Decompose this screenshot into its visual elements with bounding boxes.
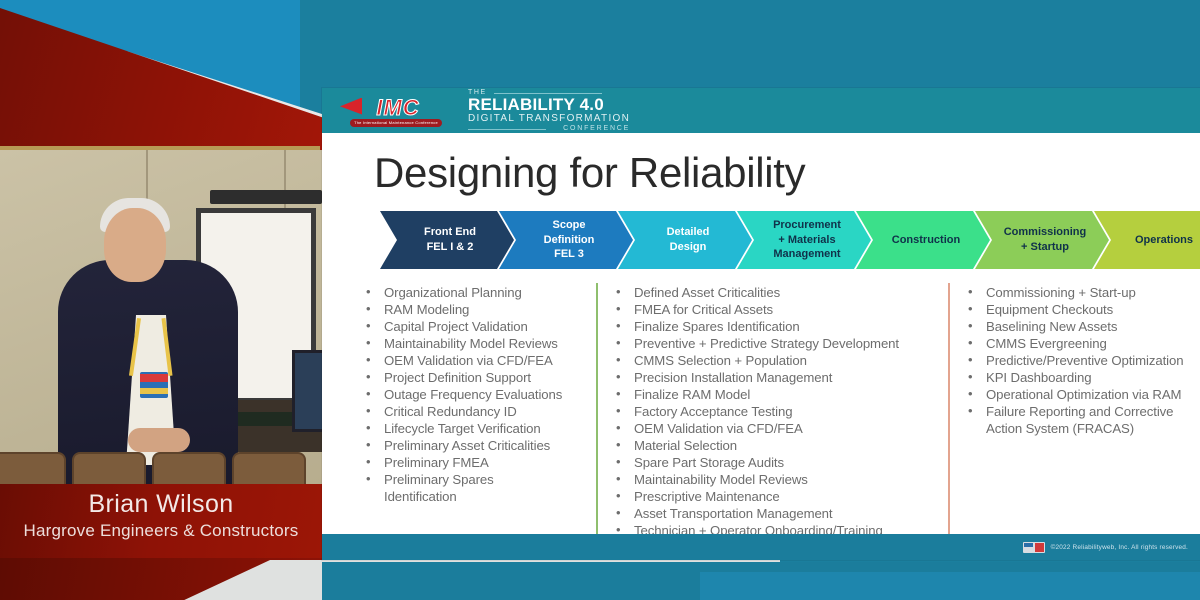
phase-chevron-6[interactable]: Commissioning+ Startup <box>975 211 1109 269</box>
deliverables-column-3: Commissioning + Start-upEquipment Checko… <box>948 285 1200 540</box>
list-item-continuation: Action System (FRACAS) <box>962 421 1200 437</box>
list-item: Preliminary Asset Criticalities <box>360 438 596 454</box>
list-item: OEM Validation via CFD/FEA <box>360 353 596 369</box>
phase-chevron-2[interactable]: ScopeDefinitionFEL 3 <box>499 211 633 269</box>
speaker-name-banner: Brian Wilson Hargrove Engineers & Constr… <box>0 484 322 560</box>
imc-logo-icon: IMC The International Maintenance Confer… <box>340 94 446 128</box>
phase-chevron-label: Construction <box>892 233 960 248</box>
list-item: Preliminary FMEA <box>360 455 596 471</box>
copyright-text: ©2022 Reliabilityweb, Inc. All rights re… <box>1051 544 1188 551</box>
list-item: Asset Transportation Management <box>610 506 948 522</box>
list-item: Defined Asset Criticalities <box>610 285 948 301</box>
phase-chevron-label: Procurement+ MaterialsManagement <box>773 218 841 263</box>
slide-footer: ©2022 Reliabilityweb, Inc. All rights re… <box>322 534 1200 560</box>
deliverables-column-2: Defined Asset CriticalitiesFMEA for Crit… <box>596 285 948 540</box>
speaker-video <box>0 150 322 488</box>
imc-logo-ribbon: The International Maintenance Conference <box>350 119 442 127</box>
list-item: Baselining New Assets <box>962 319 1200 335</box>
column-divider <box>346 283 348 545</box>
slide-left-edge <box>322 133 325 534</box>
list-item: OEM Validation via CFD/FEA <box>610 421 948 437</box>
phase-chevron-label: Operations <box>1135 233 1193 248</box>
phase-chevron-label: DetailedDesign <box>667 225 710 255</box>
audience-chairs <box>0 446 322 488</box>
deliverables-list: Defined Asset CriticalitiesFMEA for Crit… <box>610 285 948 539</box>
phase-chevron-4[interactable]: Procurement+ MaterialsManagement <box>737 211 871 269</box>
phase-chevron-label: Commissioning+ Startup <box>1004 225 1087 255</box>
brand-subtitle: DIGITAL TRANSFORMATION <box>468 114 630 125</box>
deliverables-column-1: Organizational PlanningRAM ModelingCapit… <box>346 285 596 540</box>
phase-chevron-3[interactable]: DetailedDesign <box>618 211 752 269</box>
brand-conference: CONFERENCE <box>468 125 630 132</box>
list-item: Material Selection <box>610 438 948 454</box>
brand-title: RELIABILITY 4.0 <box>468 96 630 114</box>
process-phase-chevrons: Front EndFEL I & 2ScopeDefinitionFEL 3De… <box>380 211 1192 269</box>
phase-chevron-5[interactable]: Construction <box>856 211 990 269</box>
list-item: Finalize RAM Model <box>610 387 948 403</box>
list-item: Predictive/Preventive Optimization <box>962 353 1200 369</box>
list-item: FMEA for Critical Assets <box>610 302 948 318</box>
presentation-slide: IMC The International Maintenance Confer… <box>322 88 1200 560</box>
list-item: Capital Project Validation <box>360 319 596 335</box>
list-item: Project Definition Support <box>360 370 596 386</box>
list-item: KPI Dashboarding <box>962 370 1200 386</box>
list-item: CMMS Evergreening <box>962 336 1200 352</box>
list-item: Prescriptive Maintenance <box>610 489 948 505</box>
brand-the: THE <box>468 89 630 96</box>
list-item: Commissioning + Start-up <box>962 285 1200 301</box>
list-item: Lifecycle Target Verification <box>360 421 596 437</box>
whiteboard-frame-top <box>210 190 322 204</box>
list-item: RAM Modeling <box>360 302 596 318</box>
list-item: Preliminary Spares <box>360 472 596 488</box>
slide-title: Designing for Reliability <box>322 133 1200 197</box>
imc-logo-text: IMC <box>352 95 444 118</box>
list-item: Finalize Spares Identification <box>610 319 948 335</box>
list-item: CMMS Selection + Population <box>610 353 948 369</box>
conference-badge <box>140 372 168 398</box>
phase-chevron-label: ScopeDefinitionFEL 3 <box>544 218 595 263</box>
list-item: Outage Frequency Evaluations <box>360 387 596 403</box>
column-divider <box>596 283 598 545</box>
deliverables-columns: Organizational PlanningRAM ModelingCapit… <box>346 285 1200 540</box>
speaker-head <box>104 208 166 282</box>
deliverables-list: Organizational PlanningRAM ModelingCapit… <box>360 285 596 505</box>
list-item: Maintainability Model Reviews <box>610 472 948 488</box>
list-item: Equipment Checkouts <box>962 302 1200 318</box>
reliabilityweb-logo-icon <box>1023 542 1045 553</box>
list-item: Maintainability Model Reviews <box>360 336 596 352</box>
list-item: Failure Reporting and Corrective <box>962 404 1200 420</box>
list-item-continuation: Identification <box>360 489 596 505</box>
list-item: Preventive + Predictive Strategy Develop… <box>610 336 948 352</box>
list-item: Organizational Planning <box>360 285 596 301</box>
phase-chevron-label: Front EndFEL I & 2 <box>424 225 476 255</box>
speaker-organization: Hargrove Engineers & Constructors <box>0 521 322 541</box>
phase-chevron-7[interactable]: Operations <box>1094 211 1200 269</box>
list-item: Precision Installation Management <box>610 370 948 386</box>
column-divider <box>948 283 950 545</box>
conference-branding: THE RELIABILITY 4.0 DIGITAL TRANSFORMATI… <box>468 89 630 132</box>
bottom-teal-bar-2 <box>700 572 1200 600</box>
speaker-name: Brian Wilson <box>0 484 322 519</box>
slide-header: IMC The International Maintenance Confer… <box>322 88 1200 133</box>
confidence-monitor <box>292 350 322 432</box>
list-item: Spare Part Storage Audits <box>610 455 948 471</box>
deliverables-list: Commissioning + Start-upEquipment Checko… <box>962 285 1200 437</box>
list-item: Critical Redundancy ID <box>360 404 596 420</box>
list-item: Factory Acceptance Testing <box>610 404 948 420</box>
phase-chevron-1[interactable]: Front EndFEL I & 2 <box>380 211 514 269</box>
list-item: Operational Optimization via RAM <box>962 387 1200 403</box>
